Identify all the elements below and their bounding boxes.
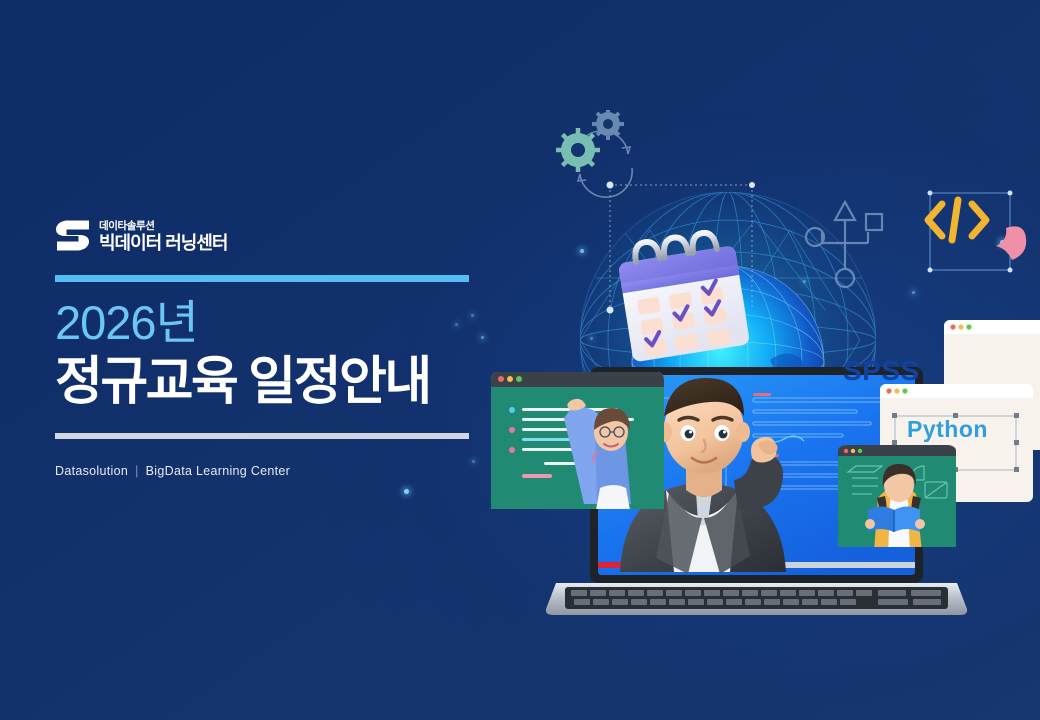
window-maximize-dot <box>902 388 907 393</box>
window-minimize-dot <box>507 376 513 382</box>
window-minimize-dot <box>894 388 899 393</box>
brand-logo[interactable]: 데이타솔루션 빅데이터 러닝센터 <box>55 210 475 252</box>
window-close-dot <box>886 388 891 393</box>
selection-handle <box>607 182 614 189</box>
progress-bar-track <box>778 562 915 568</box>
selection-handle <box>607 307 614 314</box>
window-minimize-dot <box>851 449 855 453</box>
gear-small <box>592 110 624 140</box>
illustration-svg <box>470 110 1040 650</box>
window-close-dot <box>950 324 955 329</box>
teacher-presentation-window <box>491 372 664 510</box>
tagline-separator: | <box>135 464 139 478</box>
page-title: 정규교육 일정안내 <box>55 355 475 410</box>
star-dot <box>404 489 409 494</box>
gears-icon <box>556 110 632 197</box>
window-maximize-dot <box>516 376 522 382</box>
window-maximize-dot <box>858 449 862 453</box>
datasolution-s-mark-icon <box>55 219 90 252</box>
headline-block: 데이타솔루션 빅데이터 러닝센터 2026년 정규교육 일정안내 Datasol… <box>55 210 475 478</box>
brand-main-name: 빅데이터 러닝센터 <box>99 234 227 252</box>
selection-handle <box>749 182 755 188</box>
tagline-right: BigData Learning Center <box>146 464 291 478</box>
code-brackets-icon <box>928 200 986 240</box>
window-minimize-dot <box>958 324 963 329</box>
poster-canvas: 데이타솔루션 빅데이터 러닝센터 2026년 정규교육 일정안내 Datasol… <box>0 0 1040 720</box>
divider-bottom <box>55 433 469 439</box>
window-close-dot <box>498 376 504 382</box>
tagline-left: Datasolution <box>55 464 128 478</box>
divider-top <box>55 275 469 282</box>
headline-year: 2026년 <box>55 299 475 346</box>
hero-illustration: SPSS Python <box>470 110 1040 650</box>
window-maximize-dot <box>966 324 971 329</box>
pink-ribbon-shape <box>996 226 1026 260</box>
gear-large <box>556 128 600 172</box>
student-reading-window <box>838 445 956 556</box>
window-close-dot <box>844 449 848 453</box>
brand-tagline: Datasolution|BigData Learning Center <box>55 464 475 478</box>
brand-sub-name: 데이타솔루션 <box>99 221 227 232</box>
